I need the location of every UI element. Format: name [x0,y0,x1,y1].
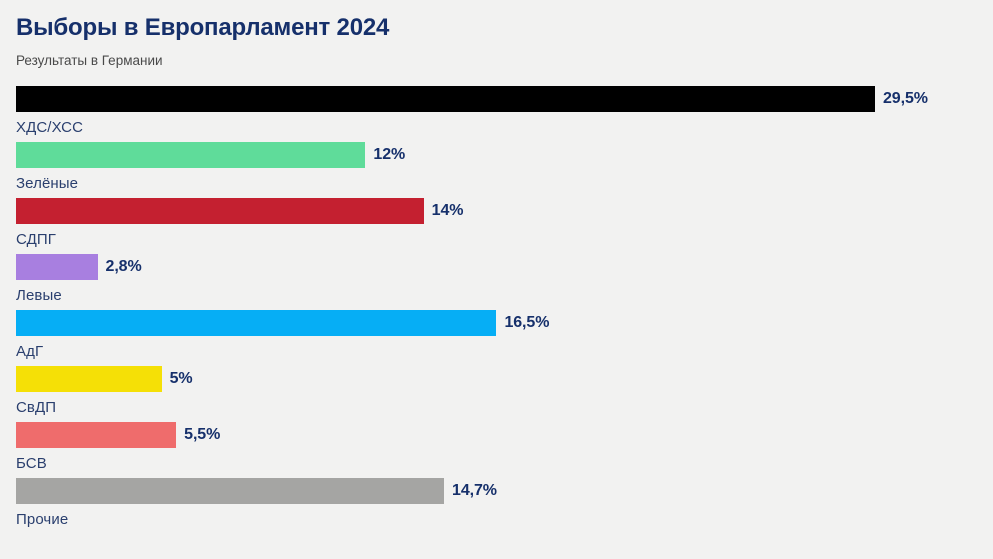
bar-row: 29,5% [0,85,993,113]
bar-value-label: 16,5% [504,314,549,332]
bar-value-label: 14,7% [452,482,497,500]
bar-category-label: СДПГ [0,225,993,249]
bar-group: 29,5%ХДС/ХСС [0,85,993,141]
bar-row: 12% [0,141,993,169]
bar-group: 12%Зелёные [0,141,993,197]
bar-rect [16,366,162,392]
bar-group: 5,5%БСВ [0,421,993,477]
bar-category-label: Зелёные [0,169,993,193]
infographic-root: Выборы в Европарламент 2024 Результаты в… [0,0,993,559]
bar-rect [16,478,444,504]
bar-row: 14,7% [0,477,993,505]
bar-group: 14%СДПГ [0,197,993,253]
chart-header: Выборы в Европарламент 2024 Результаты в… [0,0,993,69]
bar-rect [16,86,875,112]
bar-rect [16,310,496,336]
bar-value-label: 12% [373,146,405,164]
bar-group: 16,5%АдГ [0,309,993,365]
bar-row: 5% [0,365,993,393]
bar-row: 16,5% [0,309,993,337]
bar-rect [16,422,176,448]
bar-category-label: СвДП [0,393,993,417]
bar-value-label: 5% [170,370,193,388]
bar-category-label: Левые [0,281,993,305]
bar-row: 14% [0,197,993,225]
bar-value-label: 2,8% [106,258,142,276]
page-title: Выборы в Европарламент 2024 [16,14,977,42]
bar-value-label: 14% [432,202,464,220]
bar-rect [16,198,424,224]
bar-category-label: ХДС/ХСС [0,113,993,137]
bar-category-label: АдГ [0,337,993,361]
bar-group: 5%СвДП [0,365,993,421]
bar-chart: 29,5%ХДС/ХСС12%Зелёные14%СДПГ2,8%Левые16… [0,85,993,533]
bar-rect [16,254,98,280]
bar-group: 2,8%Левые [0,253,993,309]
bar-row: 5,5% [0,421,993,449]
bar-value-label: 5,5% [184,426,220,444]
page-subtitle: Результаты в Германии [16,42,977,69]
bar-category-label: БСВ [0,449,993,473]
bar-category-label: Прочие [0,505,993,529]
bar-group: 14,7%Прочие [0,477,993,533]
bar-row: 2,8% [0,253,993,281]
bar-rect [16,142,365,168]
bar-value-label: 29,5% [883,90,928,108]
